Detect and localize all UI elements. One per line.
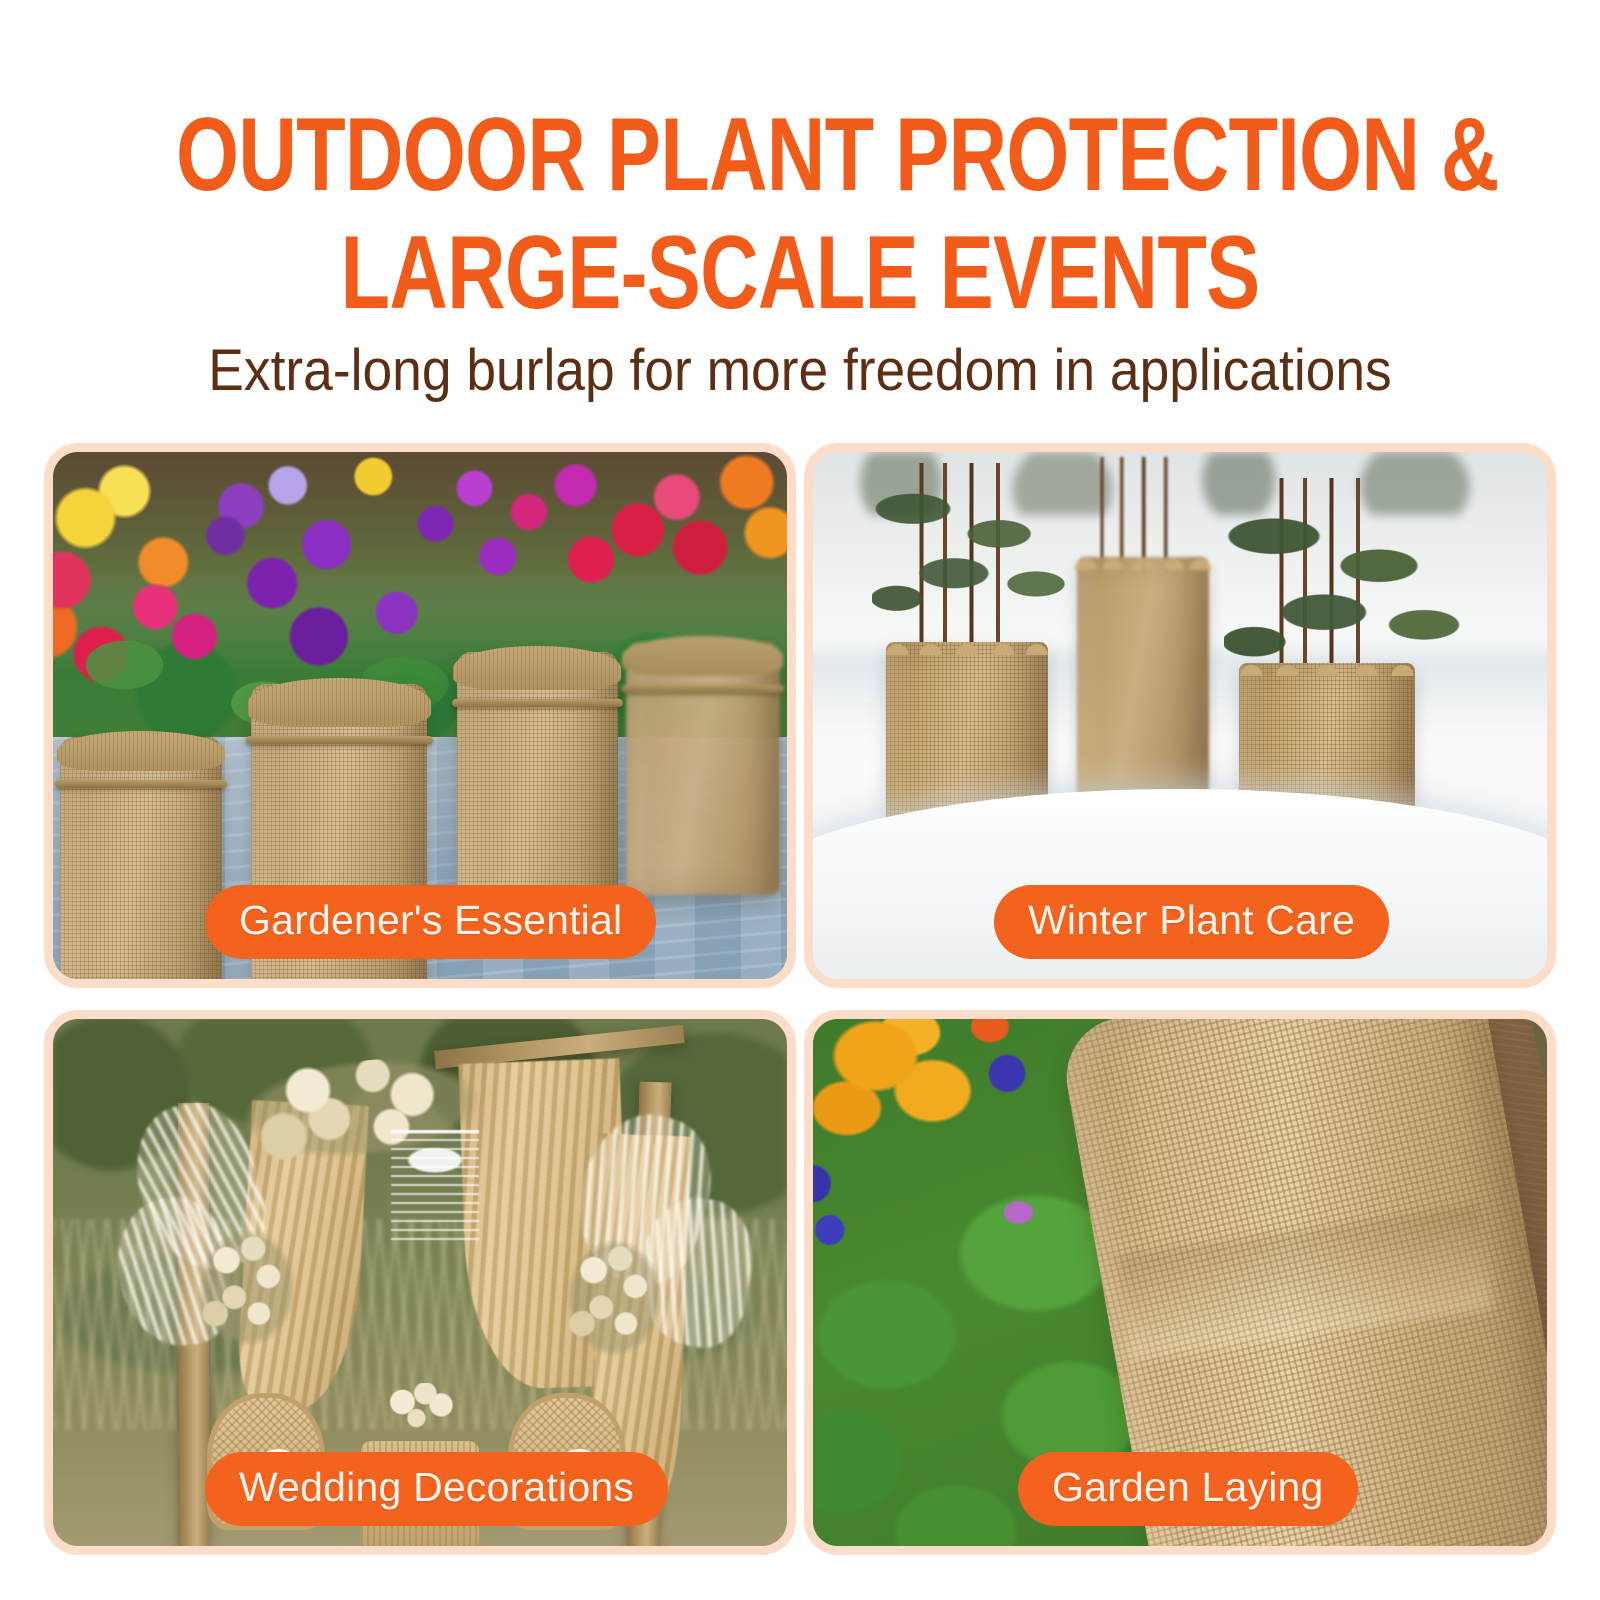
- panel-winter-plant-care[interactable]: Winter Plant Care: [804, 443, 1556, 988]
- page-subtitle: Extra-long burlap for more freedom in ap…: [64, 338, 1536, 404]
- title-line-1: OUTDOOR PLANT PROTECTION &: [176, 96, 1424, 214]
- panel-gardeners-essential[interactable]: Gardener's Essential: [44, 443, 796, 988]
- title-line-2: LARGE-SCALE EVENTS: [176, 214, 1424, 332]
- feature-grid: Gardener's Essential Winter Plant Care: [44, 443, 1556, 1555]
- infographic-page: OUTDOOR PLANT PROTECTION & LARGE-SCALE E…: [0, 0, 1600, 1600]
- burlap-tree-wrap: [1077, 557, 1209, 799]
- dried-flower-cluster: [567, 1240, 662, 1356]
- crystal-chandelier: [391, 1130, 479, 1246]
- page-title: OUTDOOR PLANT PROTECTION & LARGE-SCALE E…: [0, 96, 1600, 332]
- badge-wedding-decorations: Wedding Decorations: [205, 1452, 668, 1526]
- panel-garden-laying[interactable]: Garden Laying: [804, 1010, 1556, 1555]
- burlap-sack: [60, 737, 221, 979]
- badge-winter-plant-care: Winter Plant Care: [994, 885, 1389, 959]
- burlap-sack: [626, 642, 780, 895]
- badge-garden-laying: Garden Laying: [1018, 1452, 1358, 1526]
- header: OUTDOOR PLANT PROTECTION & LARGE-SCALE E…: [0, 0, 1600, 430]
- shrub-foliage: [872, 473, 1078, 652]
- panel-wedding-decorations[interactable]: Wedding Decorations: [44, 1010, 796, 1555]
- badge-gardeners-essential: Gardener's Essential: [205, 885, 656, 959]
- dried-flower-cluster: [200, 1230, 295, 1346]
